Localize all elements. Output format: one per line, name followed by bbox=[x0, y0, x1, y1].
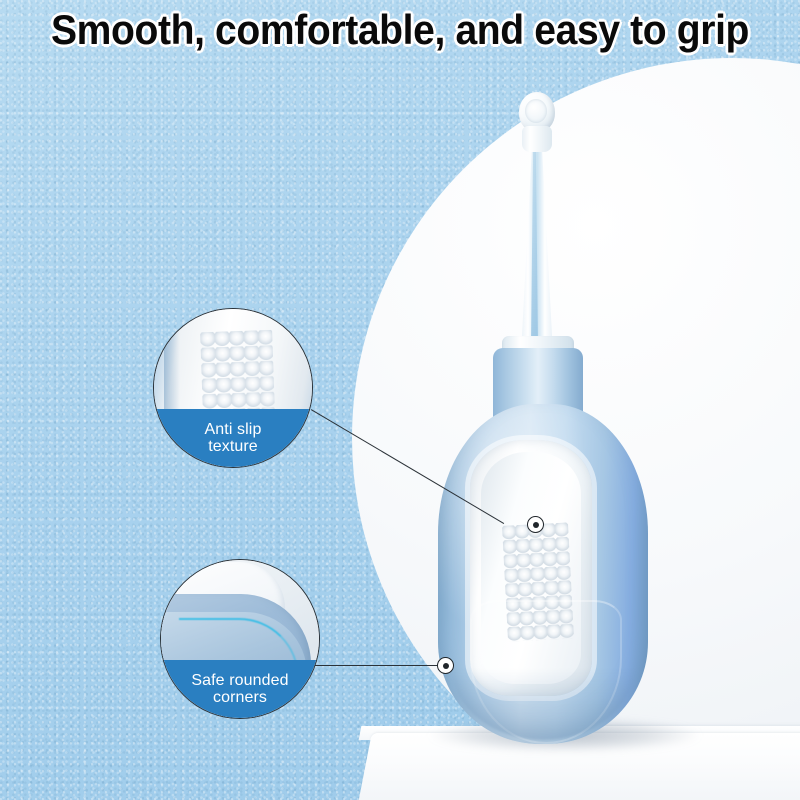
product-marketing-image: Anti slip texture Safe rounded corners S… bbox=[0, 0, 800, 800]
callout-anti-slip-label-line1: Anti slip bbox=[205, 421, 262, 438]
product-illustration bbox=[0, 0, 800, 800]
callout-corners-label-line2: corners bbox=[213, 689, 267, 706]
body-bottom-shading bbox=[452, 668, 634, 740]
target-marker-rounded-corners bbox=[437, 657, 454, 674]
target-marker-anti-slip bbox=[527, 516, 544, 533]
callout-anti-slip[interactable]: Anti slip texture bbox=[153, 308, 313, 468]
leader-line-rounded-corners bbox=[300, 665, 440, 666]
page-title: Smooth, comfortable, and easy to grip bbox=[28, 6, 772, 54]
callout-anti-slip-banner: Anti slip texture bbox=[154, 409, 312, 467]
callout-anti-slip-label-line2: texture bbox=[208, 438, 258, 455]
nozzle-tip-collar bbox=[522, 126, 552, 152]
callout-safe-rounded-corners[interactable]: Safe rounded corners bbox=[160, 559, 320, 719]
nozzle-tip-highlight bbox=[525, 99, 547, 123]
callout-corners-label-line1: Safe rounded bbox=[191, 672, 288, 689]
callout-corners-banner: Safe rounded corners bbox=[161, 660, 319, 718]
